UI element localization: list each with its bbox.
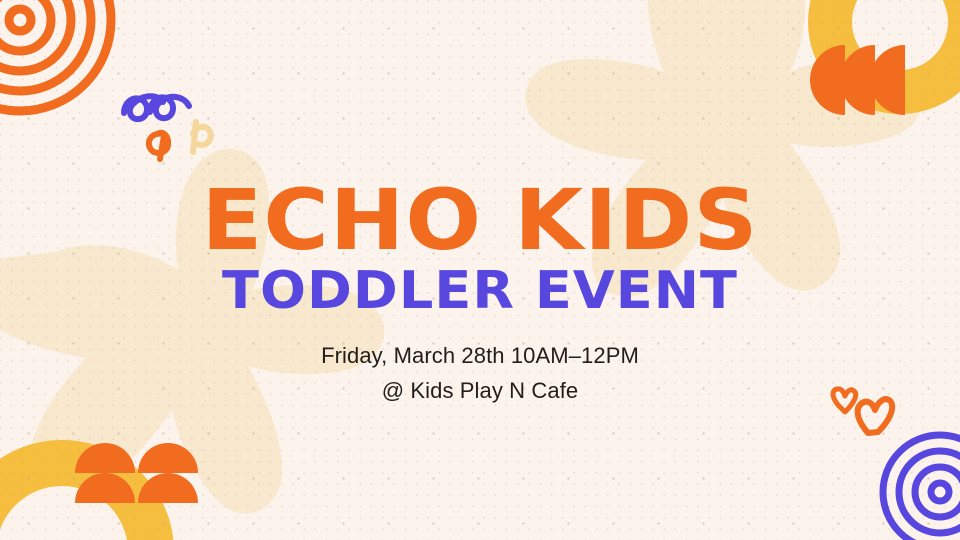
event-datetime: Friday, March 28th 10AM–12PM (0, 339, 960, 374)
curl-cream-icon (193, 122, 211, 152)
page-title: ECHO KIDS (0, 182, 960, 259)
concentric-rings-purple-bottom-right-icon (883, 435, 960, 540)
poster-text-block: ECHO KIDS TODDLER EVENT Friday, March 28… (0, 182, 960, 409)
event-location: @ Kids Play N Cafe (0, 374, 960, 409)
poster-canvas: ECHO KIDS TODDLER EVENT Friday, March 28… (0, 0, 960, 540)
concentric-rings-orange-top-left-icon (0, 0, 111, 111)
curl-orange-icon (149, 133, 168, 159)
dome-cluster-orange-icon (75, 443, 198, 503)
event-details: Friday, March 28th 10AM–12PM @ Kids Play… (0, 339, 960, 409)
squiggle-spiral-purple-icon (124, 96, 189, 119)
page-subtitle: TODDLER EVENT (0, 265, 960, 317)
triple-half-circle-orange-icon (810, 45, 905, 115)
